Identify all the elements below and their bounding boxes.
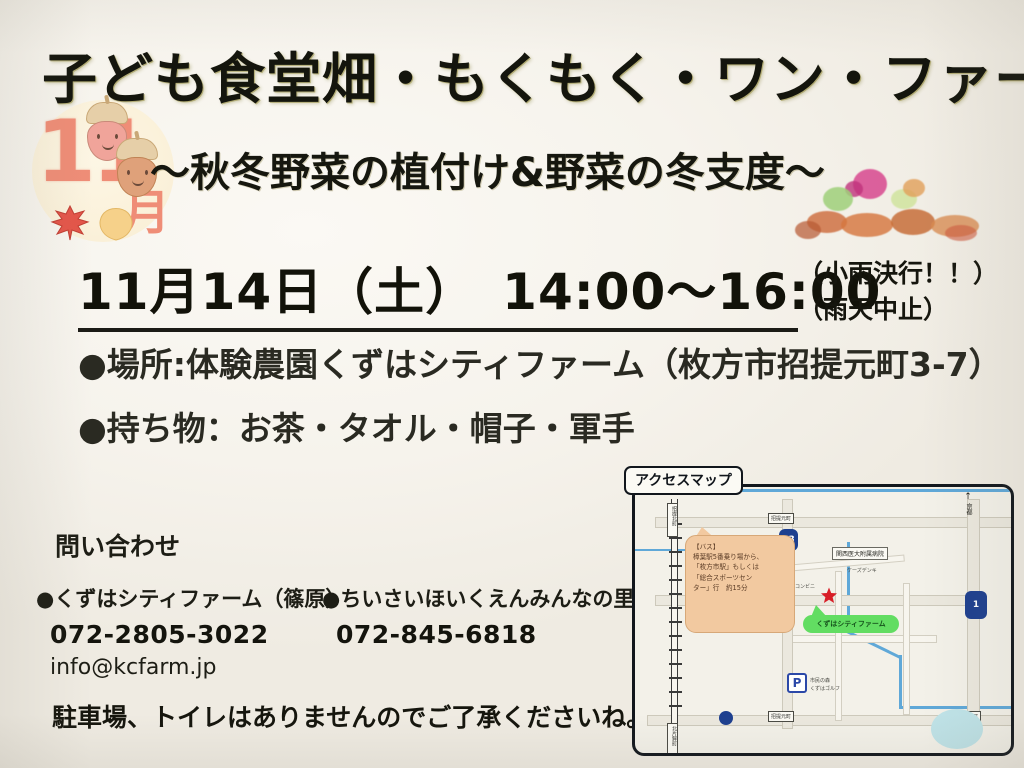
rain-note-cancel: （雨天中止）: [798, 292, 1024, 328]
harvest-illustration: [795, 165, 1015, 260]
route-marker-icon: 1: [965, 591, 987, 619]
parking-icon: P: [787, 673, 807, 693]
rain-note-light: （小雨決行！！）: [798, 256, 1024, 292]
bus-info-bubble: 【バス】 樟葉駅5番乗り場から、 「枚方市駅」もしくは 「総合スポーツセン ター…: [685, 535, 795, 633]
event-bring-items: ●持ち物：お茶・タオル・帽子・軍手: [78, 402, 635, 450]
parking-letter: P: [793, 677, 802, 689]
contact-heading: 問い合わせ: [55, 527, 180, 563]
bus-info-line: ター」行 約15分: [693, 583, 789, 593]
event-date-line: 11月14日（土） 14:00〜16:00: [78, 252, 798, 332]
map-frame: 招提北町 北片鉾町 招提元町 招提中町 招提元町 招提中町 13 1 【バス】 …: [632, 484, 1014, 756]
map-title-text: アクセスマップ: [635, 473, 732, 489]
facility-notice: 駐車場、トイレはありませんのでご了承くださいね。: [52, 698, 651, 734]
contact-entry: ●くずはシティファーム（篠原） 072-2805-3022 info@kcfar…: [36, 583, 346, 680]
poster-subtitle: 〜秋冬野菜の植付け&野菜の冬支度〜: [150, 140, 825, 198]
contact-email[interactable]: info@kcfarm.jp: [50, 655, 346, 680]
map-poi-text: ケーズデンキ: [847, 567, 877, 574]
destination-star-icon: [820, 587, 838, 605]
map-poi-text: くずはゴルフ: [810, 685, 840, 692]
route-marker-number: 1: [973, 600, 979, 610]
map-road-label: 北片鉾町: [667, 723, 678, 756]
bus-stop-icon: [719, 711, 733, 725]
pond-shape: [931, 709, 983, 749]
contact-name: ●くずはシティファーム（篠原）: [36, 583, 346, 613]
contact-phone[interactable]: 072-845-6818: [336, 620, 634, 649]
event-place: ●場所:体験農園くずはシティファーム（枚方市招提元町3-7）: [78, 338, 1002, 386]
ginkgo-leaf-icon: [94, 206, 138, 242]
bus-info-line: 「枚方市駅」もしくは: [693, 562, 789, 572]
maple-leaf-icon: [50, 204, 90, 242]
direction-label: 京都: [965, 503, 971, 515]
map-road-label: 招提元町: [768, 711, 794, 722]
map-road-label: 招提元町: [768, 513, 794, 524]
hospital-label: 関西医大附属病院: [832, 547, 888, 560]
bus-info-line: 【バス】: [693, 542, 789, 552]
bus-info-line: 樟葉駅5番乗り場から、: [693, 552, 789, 562]
farm-location-label: くずはシティファーム: [803, 615, 899, 633]
contact-phone[interactable]: 072-2805-3022: [50, 620, 346, 649]
direction-indicator: ↑ 京都: [959, 493, 977, 515]
map-title-badge: アクセスマップ: [624, 466, 743, 495]
map-poi-text: コンビニ: [795, 583, 815, 590]
event-date-text: 11月14日（土） 14:00〜16:00: [78, 252, 798, 324]
contact-name: ●ちいさいほいくえんみんなの里: [322, 583, 634, 613]
bus-info-line: 「総合スポーツセン: [693, 573, 789, 583]
map-road-label: 招提北町: [667, 503, 678, 537]
direction-arrow-icon: ↑: [959, 493, 977, 502]
access-map: 招提北町 北片鉾町 招提元町 招提中町 招提元町 招提中町 13 1 【バス】 …: [624, 466, 1022, 766]
contact-entry: ●ちいさいほいくえんみんなの里 072-845-6818: [322, 583, 634, 649]
rain-policy-notes: （小雨決行！！） （雨天中止）: [798, 256, 1024, 329]
farm-label-text: くずはシティファーム: [816, 619, 885, 629]
map-poi-text: 市民の森: [810, 677, 830, 684]
